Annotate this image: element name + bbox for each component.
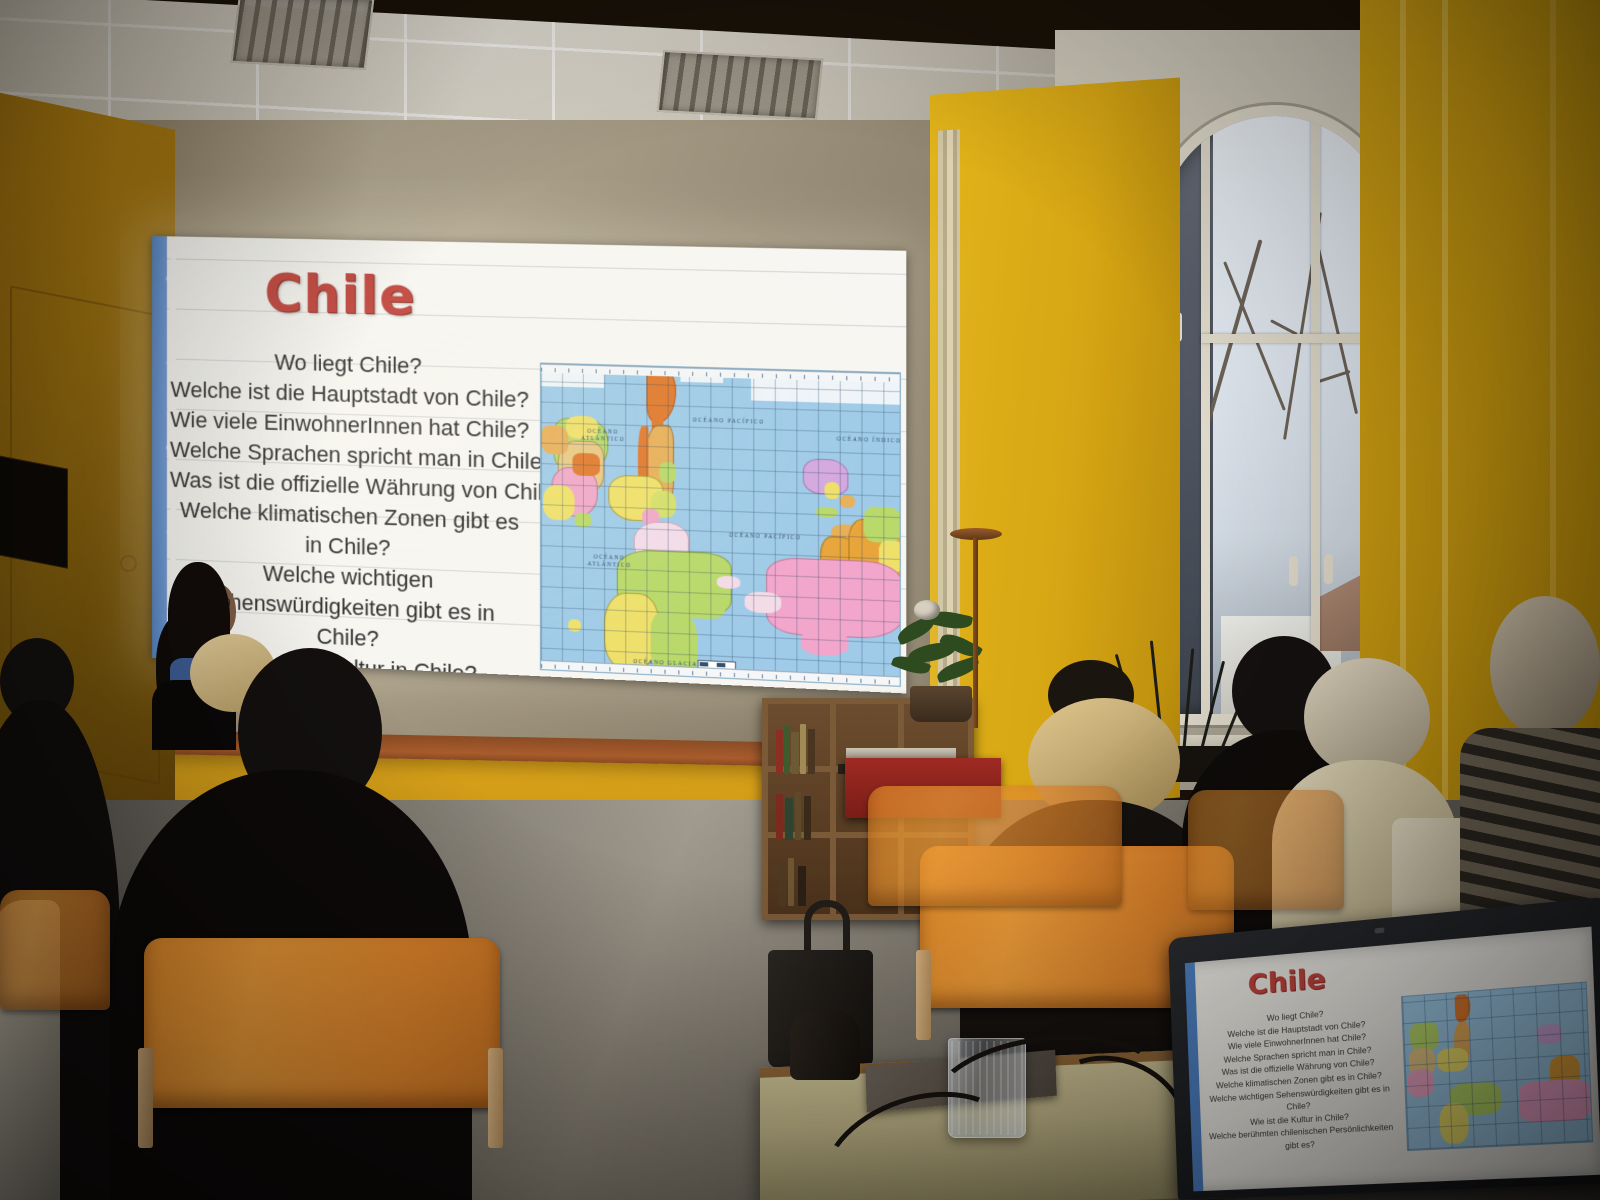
map-ocean-label: OCÉANO ATLÁNTICO bbox=[572, 553, 646, 570]
window-mullion bbox=[1311, 105, 1320, 725]
book bbox=[795, 792, 801, 840]
door-window-panel bbox=[0, 455, 68, 569]
door-knob-icon[interactable] bbox=[120, 555, 137, 572]
chair[interactable] bbox=[868, 786, 1122, 906]
presentation-slide: Chile Wo liegt Chile? Welche ist die Hau… bbox=[152, 236, 906, 693]
chair-leg bbox=[488, 1048, 503, 1148]
book bbox=[778, 862, 786, 906]
chair[interactable] bbox=[144, 938, 500, 1108]
window-mullion bbox=[1201, 105, 1210, 725]
decorative-vessel bbox=[914, 600, 940, 620]
audience-head-grey bbox=[1490, 596, 1600, 736]
chair-backrest bbox=[868, 786, 1122, 906]
classroom-presentation-scene: Chile Wo liegt Chile? Welche ist die Hau… bbox=[0, 0, 1600, 1200]
laptop-slide-title: Chile bbox=[1247, 963, 1326, 1001]
laptop-screen: Chile Wo liegt Chile? Welche ist die Hau… bbox=[1185, 927, 1600, 1192]
book bbox=[784, 726, 790, 774]
book bbox=[808, 729, 815, 774]
book bbox=[791, 732, 799, 774]
book bbox=[785, 798, 793, 840]
book bbox=[776, 730, 783, 774]
map-graticule bbox=[541, 364, 900, 686]
book bbox=[800, 724, 806, 774]
chair-leg bbox=[138, 1048, 153, 1148]
candle-stand bbox=[950, 528, 1002, 728]
chair-backrest bbox=[144, 938, 500, 1108]
audience-head-grey bbox=[1304, 658, 1430, 776]
candle-stem bbox=[973, 538, 978, 728]
webcam-icon bbox=[1375, 927, 1385, 933]
chair[interactable] bbox=[1188, 790, 1344, 910]
window-handle[interactable] bbox=[1324, 554, 1333, 584]
book bbox=[788, 858, 794, 906]
book bbox=[804, 796, 811, 840]
chair[interactable] bbox=[0, 890, 110, 1010]
chair-backrest bbox=[1188, 790, 1344, 910]
window-handle[interactable] bbox=[1289, 556, 1298, 586]
book bbox=[798, 866, 806, 906]
shelf-divider bbox=[830, 704, 836, 914]
book bbox=[776, 794, 783, 840]
wall-trim-line bbox=[1442, 0, 1448, 900]
map-ocean-label: OCÉANO ATLÁNTICO bbox=[566, 428, 640, 445]
chair-leg bbox=[916, 950, 931, 1040]
laptop-world-map bbox=[1401, 981, 1593, 1151]
world-map-image: OCÉANO PACÍFICO OCÉANO ATLÁNTICO OCÉANO … bbox=[540, 363, 901, 687]
laptop-slide-questions: Wo liegt Chile? Welche ist die Hauptstad… bbox=[1201, 1003, 1399, 1157]
carafe[interactable] bbox=[790, 1010, 860, 1080]
laptop[interactable]: Chile Wo liegt Chile? Welche ist die Hau… bbox=[1168, 897, 1600, 1200]
chair-backrest bbox=[0, 890, 110, 1010]
slide-title: Chile bbox=[264, 264, 415, 327]
projection-screen: Chile Wo liegt Chile? Welche ist die Hau… bbox=[152, 236, 906, 693]
map-graticule bbox=[1402, 983, 1592, 1150]
